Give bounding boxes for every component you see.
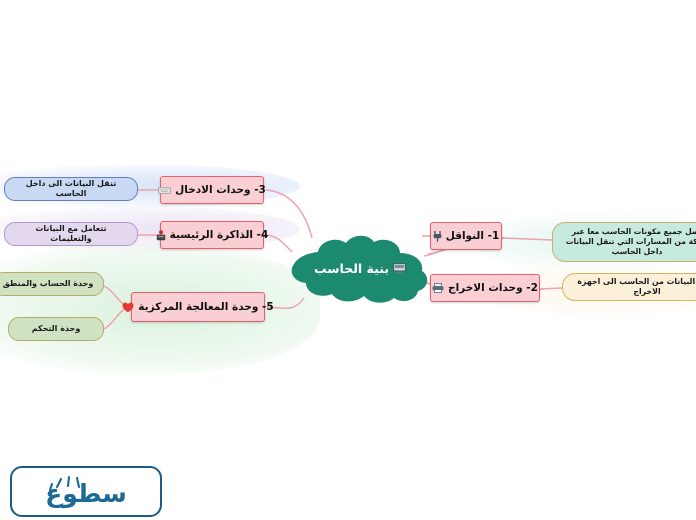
- mindmap-canvas: بنية الحاسب 1- النواقل تصل جميع مكونات ا…: [0, 0, 696, 520]
- detail-node-alu-text: وحدة الحساب والمنطق: [3, 279, 94, 289]
- branch-node-cpu[interactable]: 5- وحدة المعالجة المركزية: [131, 292, 265, 322]
- branch-node-memory[interactable]: 4- الذاكرة الرئيسية: [160, 221, 264, 249]
- detail-node-output-text: تنقل البيانات من الحاسب الى اجهزة الاخرا…: [573, 277, 696, 297]
- branch-node-cpu-label: 5- وحدة المعالجة المركزية: [138, 301, 273, 313]
- logo-text: سطوع: [45, 479, 127, 509]
- branch-node-output[interactable]: 2- وحدات الاخراج: [430, 274, 540, 302]
- branch-node-bus-label: 1- النواقل: [446, 230, 500, 242]
- detail-node-control-unit-text: وحدة التحكم: [32, 324, 81, 334]
- computer-icon: [393, 263, 406, 274]
- center-node[interactable]: بنية الحاسب: [284, 232, 436, 304]
- branch-node-input-label: 3- وحدات الادخال: [175, 184, 266, 196]
- detail-node-input-text: تنقل البيانات الى داخل الحاسب: [14, 179, 128, 199]
- detail-node-memory-text: تتعامل مع البيانات والتعليمات: [14, 224, 128, 244]
- logo-artwork: سطوع: [26, 475, 146, 509]
- branch-node-input[interactable]: 3- وحدات الادخال: [160, 176, 264, 204]
- detail-node-alu[interactable]: وحدة الحساب والمنطق: [0, 272, 104, 296]
- detail-node-output[interactable]: تنقل البيانات من الحاسب الى اجهزة الاخرا…: [562, 273, 696, 301]
- watermark-logo: سطوع: [10, 466, 162, 517]
- detail-node-control-unit[interactable]: وحدة التحكم: [8, 317, 104, 341]
- keyboard-icon: [158, 187, 171, 194]
- center-node-label-wrap: بنية الحاسب: [314, 261, 406, 276]
- detail-node-memory[interactable]: تتعامل مع البيانات والتعليمات: [4, 222, 138, 246]
- heart-icon: [122, 302, 134, 313]
- detail-node-input[interactable]: تنقل البيانات الى داخل الحاسب: [4, 177, 138, 201]
- detail-node-bus-text: تصل جميع مكونات الحاسب معا عبر شبكة من ا…: [563, 227, 696, 256]
- branch-node-memory-label: 4- الذاكرة الرئيسية: [170, 229, 269, 241]
- branch-node-output-label: 2- وحدات الاخراج: [448, 282, 538, 294]
- center-node-label: بنية الحاسب: [314, 261, 389, 276]
- memory-chip-icon: [156, 230, 166, 241]
- detail-node-bus[interactable]: تصل جميع مكونات الحاسب معا عبر شبكة من ا…: [552, 222, 696, 262]
- branch-node-bus[interactable]: 1- النواقل: [430, 222, 502, 250]
